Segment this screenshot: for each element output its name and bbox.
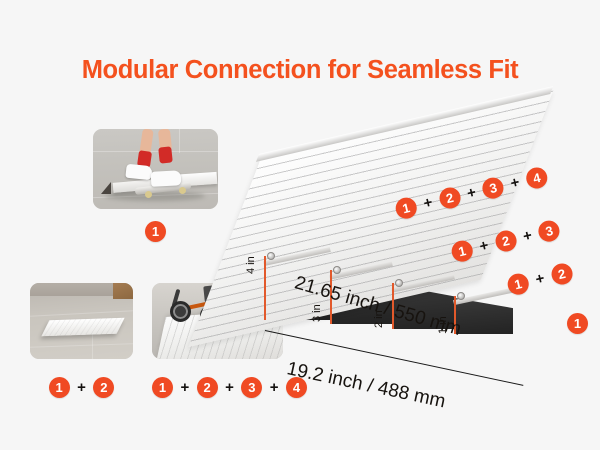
thumbnail-ramp-on-tile-floor[interactable] <box>30 283 133 359</box>
plus-separator: + <box>462 181 481 205</box>
badge-1: 1 <box>567 313 588 334</box>
config-row-1-module: 1 <box>567 313 588 334</box>
badge-2: 2 <box>197 377 218 398</box>
thumbnail-1-caption: 1 <box>93 221 218 242</box>
badge-1: 1 <box>145 221 166 242</box>
tile-grout-line <box>92 331 93 359</box>
badge-1: 1 <box>152 377 173 398</box>
page-title: Modular Connection for Seamless Fit <box>0 56 600 85</box>
infographic-canvas: Modular Connection for Seamless Fit 1 <box>0 0 600 450</box>
thumbnail-skateboard-ramp[interactable] <box>93 129 218 209</box>
dimension-label-step-3: 3 in <box>311 304 323 322</box>
skateboard-wheel <box>145 191 152 198</box>
ground-seam <box>179 129 180 153</box>
skateboard-wheel <box>179 187 186 194</box>
modular-ramp-mat <box>41 318 124 337</box>
ramp-surface-ribs <box>41 318 124 337</box>
skater-shoe <box>151 170 182 187</box>
plus-separator: + <box>474 234 493 258</box>
joint-rivet <box>267 252 275 260</box>
plus-separator: + <box>177 377 192 398</box>
plus-separator: + <box>518 224 537 248</box>
stroller-wheel <box>170 301 191 322</box>
wood-door-frame <box>113 283 133 299</box>
badge-2: 2 <box>93 377 114 398</box>
ground-seam <box>93 151 218 152</box>
plus-separator: + <box>530 267 549 291</box>
joint-rivet <box>457 292 465 300</box>
joint-rivet <box>395 279 403 287</box>
thumbnail-2-caption: 1 + 2 <box>30 377 133 398</box>
measure-line-4in <box>264 256 266 320</box>
plus-separator: + <box>418 191 437 215</box>
plus-separator: + <box>222 377 237 398</box>
ramp-wedge <box>101 182 111 194</box>
dimension-label-step-4: 4 in <box>245 256 257 274</box>
joint-rivet <box>333 266 341 274</box>
dimension-label-depth: 19.2 inch / 488 mm <box>285 358 448 413</box>
badge-1: 1 <box>49 377 70 398</box>
plus-separator: + <box>506 171 525 195</box>
ramp-side-panel-step-1 <box>455 298 513 334</box>
skater-sock <box>158 146 173 163</box>
skater-shoe <box>125 164 152 181</box>
plus-separator: + <box>74 377 89 398</box>
